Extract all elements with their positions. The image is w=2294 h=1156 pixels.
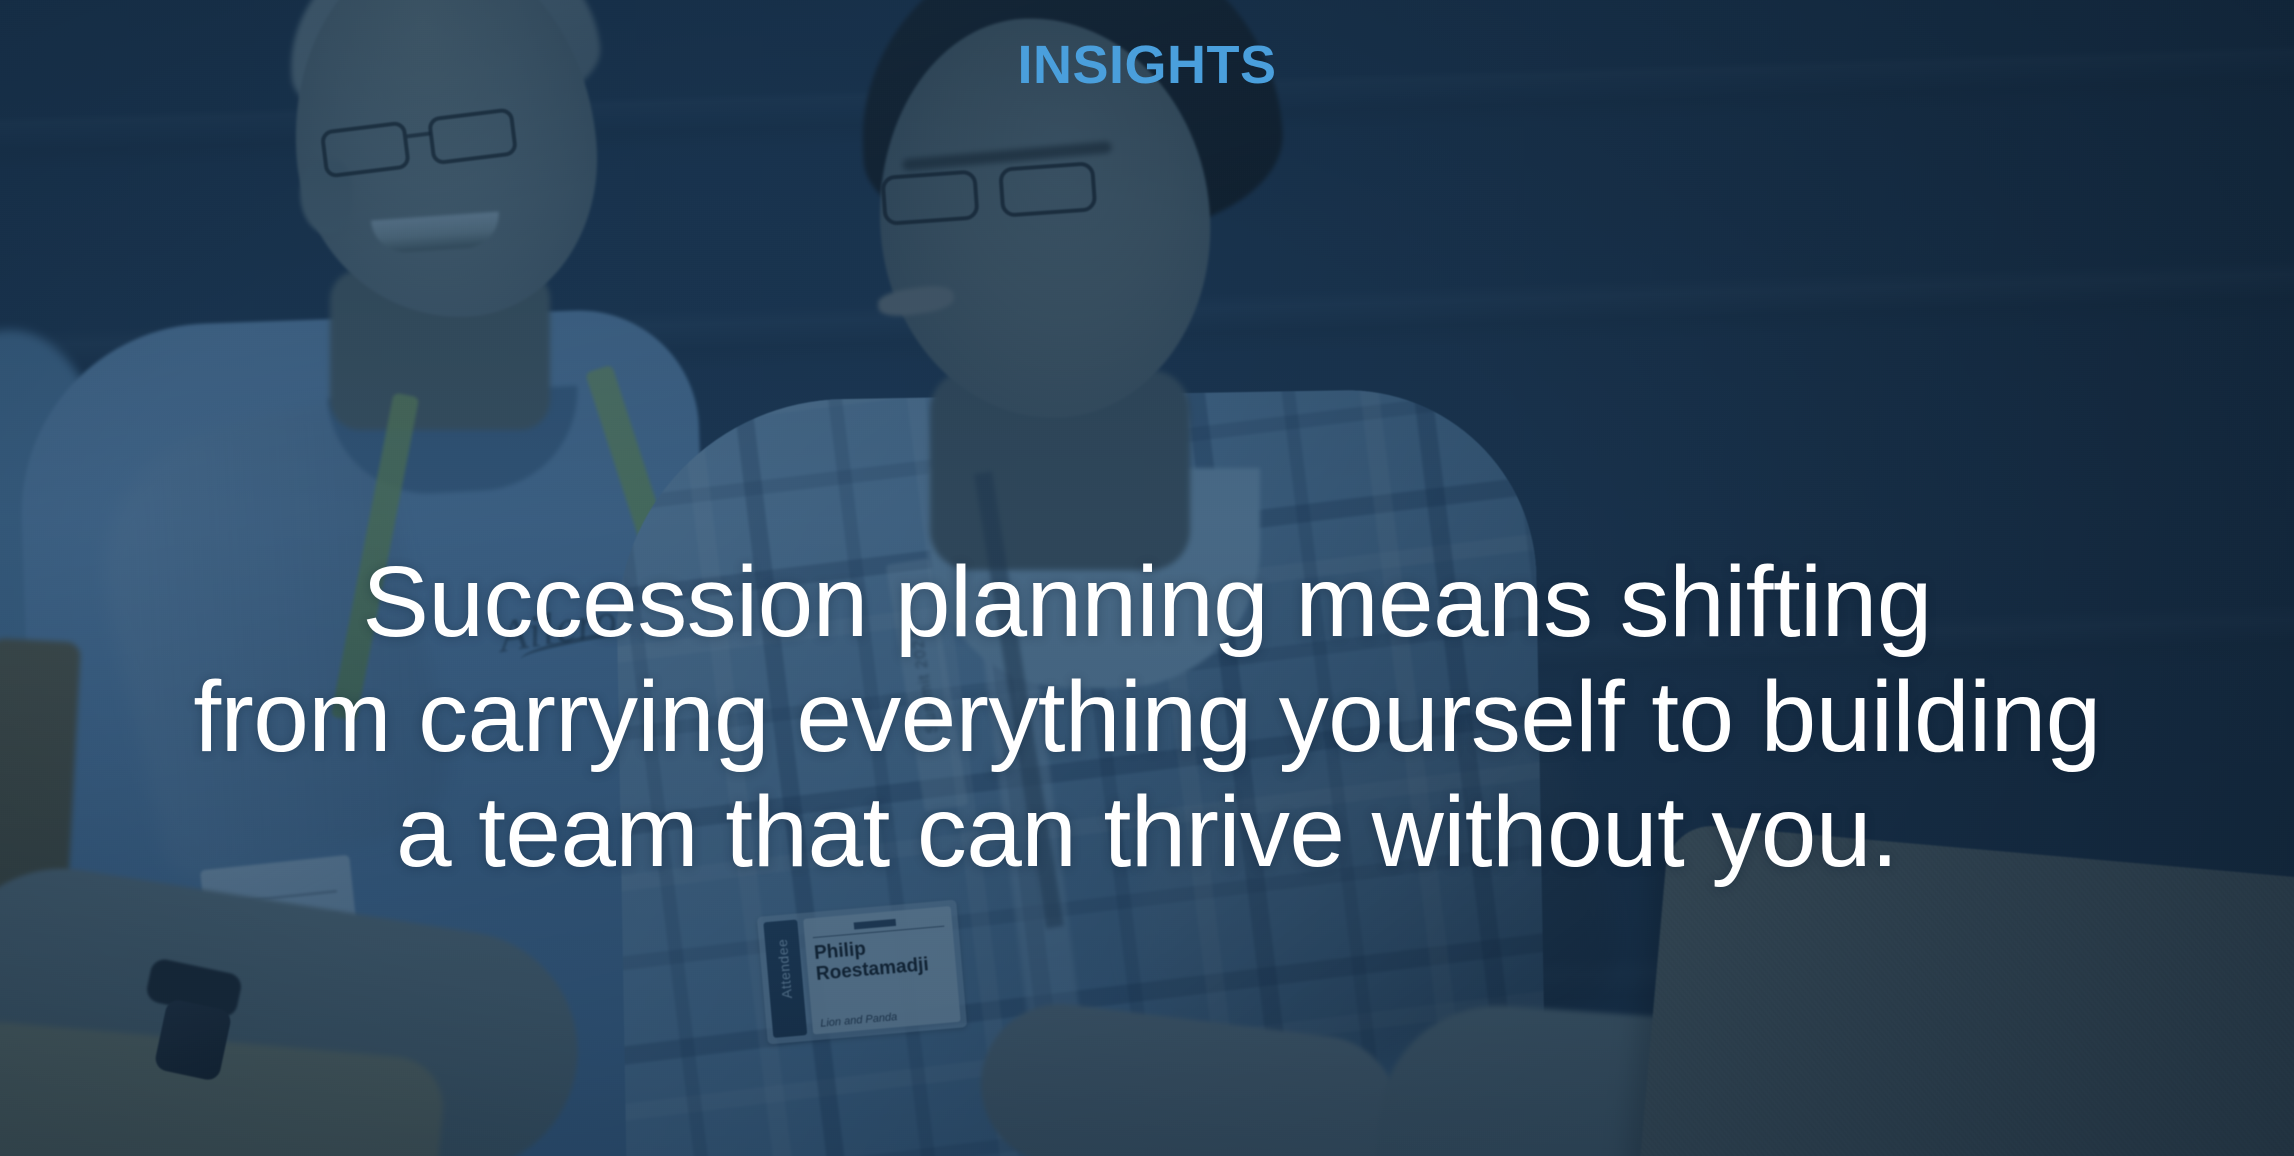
eyebrow-label: INSIGHTS [0, 38, 2294, 92]
quote-line-3: a team that can thrive without you. [40, 775, 2254, 890]
insights-quote-card: Aileron Summit 2024 Attendee [0, 0, 2294, 1156]
quote-text: Succession planning means shifting from … [40, 545, 2254, 890]
card-content: INSIGHTS Succession planning means shift… [0, 0, 2294, 1156]
quote-line-1: Succession planning means shifting [40, 545, 2254, 660]
quote-line-2: from carrying everything yourself to bui… [40, 660, 2254, 775]
